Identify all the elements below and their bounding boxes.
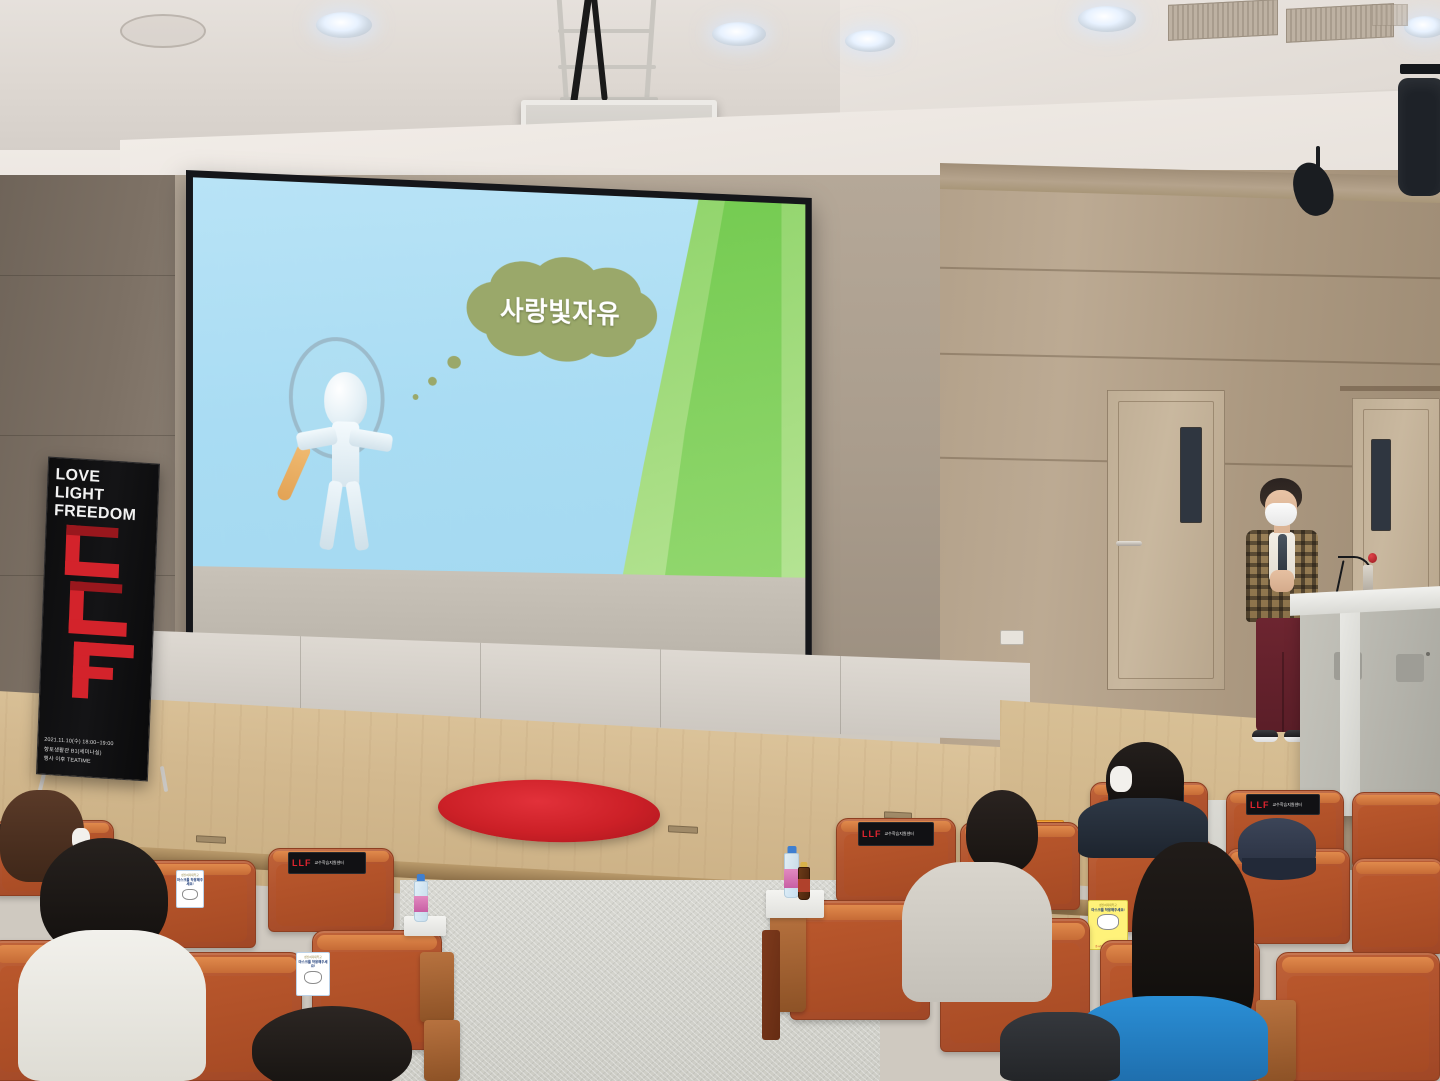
presenter-hands (1270, 570, 1294, 592)
podium (1300, 604, 1440, 816)
sign-message: 마스크를 착용해주세요! (297, 960, 329, 969)
placard-kr-text: 교수학습지원센터 (1273, 802, 1302, 808)
drink-bottle[interactable] (798, 862, 810, 900)
podium-edge-strip (1340, 612, 1360, 816)
seat-armrest (424, 1020, 460, 1081)
placard-kr-text: 교수학습지원센터 (315, 860, 344, 866)
speaker-bracket (1400, 64, 1440, 74)
ceiling-ring-fixture (120, 14, 206, 48)
auditorium-seat[interactable] (1276, 952, 1440, 1081)
placard-llf-text: LLF (1250, 800, 1270, 810)
floor-outlet (196, 835, 226, 844)
floor-outlet (668, 825, 698, 834)
door-header-trim (1340, 386, 1440, 391)
wall-switch-plate[interactable] (1000, 630, 1024, 645)
face-mask (1110, 766, 1132, 792)
seat-placard: LLF 교수학습지원센터 (1246, 794, 1320, 815)
slide-bubble-text: 사랑빛자유 (462, 253, 656, 367)
placard-kr-text: 교수학습지원센터 (885, 831, 914, 837)
ceiling-vent (1168, 0, 1278, 41)
mask-icon (1097, 914, 1119, 930)
downlight-icon (845, 30, 895, 52)
sign-org: 성신여자대학교 (181, 873, 198, 877)
downlight-icon (316, 12, 372, 38)
door-left[interactable] (1107, 390, 1225, 690)
water-bottle[interactable] (414, 874, 428, 922)
seat-armrest-side (762, 930, 780, 1040)
banner-llf-logo (45, 518, 156, 725)
event-banner: LOVE LIGHT FREEDOM 2021.11.10(수) 18:00~1… (36, 457, 160, 782)
bubble-tail-small (413, 394, 419, 400)
auditorium-scene: 사랑빛자유 LOVE LIGHT FREEDOM (0, 0, 1440, 1081)
downlight-icon (1078, 6, 1136, 32)
ceiling-vent (1372, 4, 1408, 26)
slide-figure-magnifier (282, 335, 407, 556)
placard-llf-text: LLF (292, 858, 312, 868)
bubble-tail-large (447, 355, 460, 368)
seat-armrest (420, 952, 454, 1022)
placard-llf-text: LLF (862, 829, 882, 839)
audience-shoulders (902, 862, 1052, 1002)
mask-icon (304, 971, 323, 985)
auditorium-seat[interactable] (1352, 858, 1440, 954)
cap-brim (1242, 858, 1316, 880)
downlight-icon (712, 22, 766, 46)
bubble-tail-mid (428, 377, 437, 386)
downlight-icon (1404, 16, 1440, 38)
water-bottle[interactable] (784, 846, 799, 898)
seat-placard: LLF 교수학습지원센터 (288, 852, 366, 874)
seat-distancing-sign: 성신여자대학교 마스크를 착용해주세요! (176, 870, 204, 908)
sign-org: 성신여자대학교 (1099, 903, 1116, 907)
ceiling-speaker (1398, 78, 1440, 196)
projector-lift-mount (500, 0, 680, 115)
slide-content: 사랑빛자유 (193, 177, 805, 683)
sign-org: 성신여자대학교 (304, 955, 321, 959)
mic-wall-mount (1363, 565, 1373, 591)
microphone-head-icon (1368, 553, 1377, 563)
thought-bubble: 사랑빛자유 (462, 253, 656, 367)
presenter-shoe (1252, 730, 1278, 742)
sign-message: 마스크를 착용해주세요! (1091, 908, 1124, 912)
seat-placard: LLF 교수학습지원센터 (858, 822, 934, 846)
seat-distancing-sign: 성신여자대학교 마스크를 착용해주세요! (296, 952, 330, 996)
sign-message: 마스크를 착용해주세요! (177, 878, 203, 887)
audience-shoulders (1000, 1012, 1120, 1081)
projection-screen: 사랑빛자유 (186, 170, 812, 690)
mask-icon (182, 889, 197, 901)
auditorium-seat[interactable] (1352, 792, 1440, 868)
audience-shoulders (18, 930, 206, 1081)
face-mask (1265, 503, 1297, 526)
